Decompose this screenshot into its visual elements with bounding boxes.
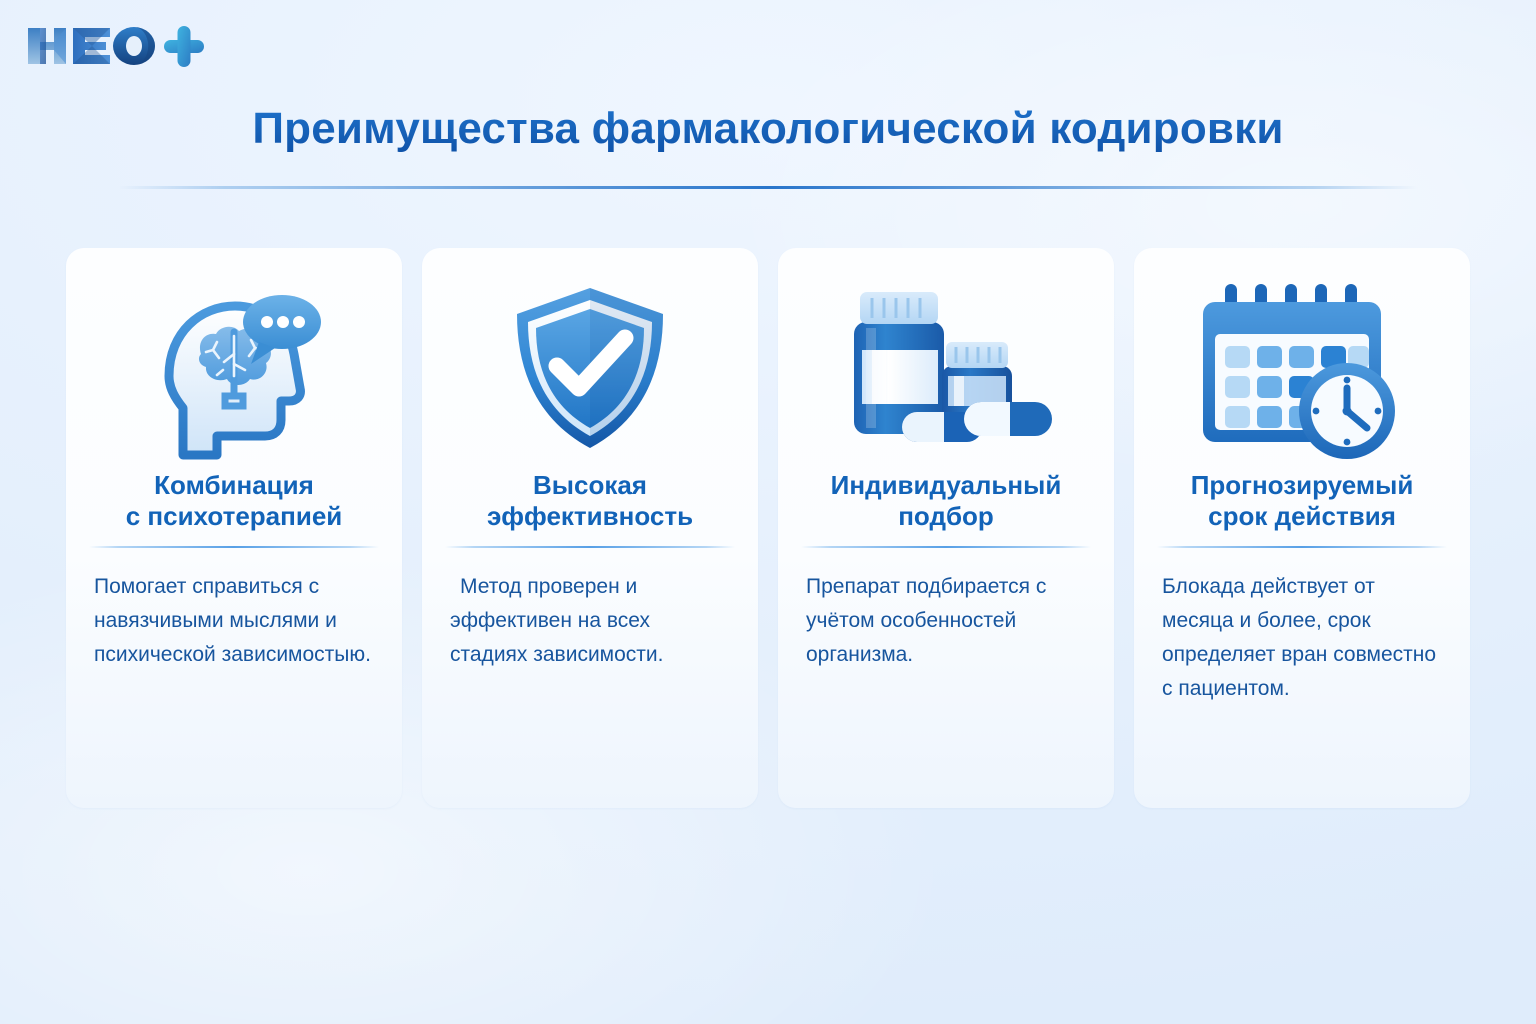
benefit-card-effectiveness[interactable]: Высокая эффективность Метод проверен и э… (422, 248, 758, 808)
card-title-line-2: с психотерапией (126, 501, 343, 531)
card-icon-slot (798, 272, 1094, 468)
card-title-line-1: Комбинация (154, 470, 314, 500)
neo-plus-logo (18, 18, 208, 74)
card-divider (89, 546, 379, 548)
card-title: Высокая эффективность (487, 470, 693, 532)
shield-check-icon (505, 280, 675, 460)
benefit-card-psychotherapy[interactable]: Комбинация с психотерапией Помогает спра… (66, 248, 402, 808)
card-title: Прогнозируемый срок действия (1191, 470, 1414, 532)
benefit-card-individual-selection[interactable]: Индивидуальный подбор Препарат подбирает… (778, 248, 1114, 808)
card-title: Индивидуальный подбор (831, 470, 1062, 532)
card-title-line-2: подбор (898, 501, 994, 531)
card-icon-slot (1154, 272, 1450, 468)
card-icon-slot (86, 272, 382, 468)
card-title: Комбинация с психотерапией (126, 470, 343, 532)
card-divider (1157, 546, 1447, 548)
benefit-cards-row: Комбинация с психотерапией Помогает спра… (66, 248, 1470, 808)
pill-bottles-capsules-icon (836, 280, 1056, 460)
brain-head-speech-bubble-icon (139, 280, 329, 460)
card-body-text: Помогает справиться с навязчивыми мыслям… (86, 570, 382, 672)
card-title-line-1: Индивидуальный (831, 470, 1062, 500)
card-divider (801, 546, 1091, 548)
infographic-page: Преимущества фармакологической кодировки (0, 0, 1536, 1024)
card-icon-slot (442, 272, 738, 468)
card-title-line-1: Прогнозируемый (1191, 470, 1414, 500)
card-title-line-1: Высокая (533, 470, 647, 500)
page-title: Преимущества фармакологической кодировки (0, 104, 1536, 154)
benefit-card-duration[interactable]: Прогнозируемый срок действия Блокада дей… (1134, 248, 1470, 808)
card-body-text: Метод проверен и эффективен на всех стад… (442, 570, 738, 672)
card-divider (445, 546, 735, 548)
card-title-line-2: срок действия (1208, 501, 1396, 531)
title-divider (118, 186, 1418, 189)
card-body-text: Препарат подбирается с учётом особенност… (798, 570, 1094, 672)
card-body-text: Блокада действует от месяца и более, сро… (1154, 570, 1450, 706)
calendar-clock-icon (1195, 278, 1410, 463)
card-title-line-2: эффективность (487, 501, 693, 531)
